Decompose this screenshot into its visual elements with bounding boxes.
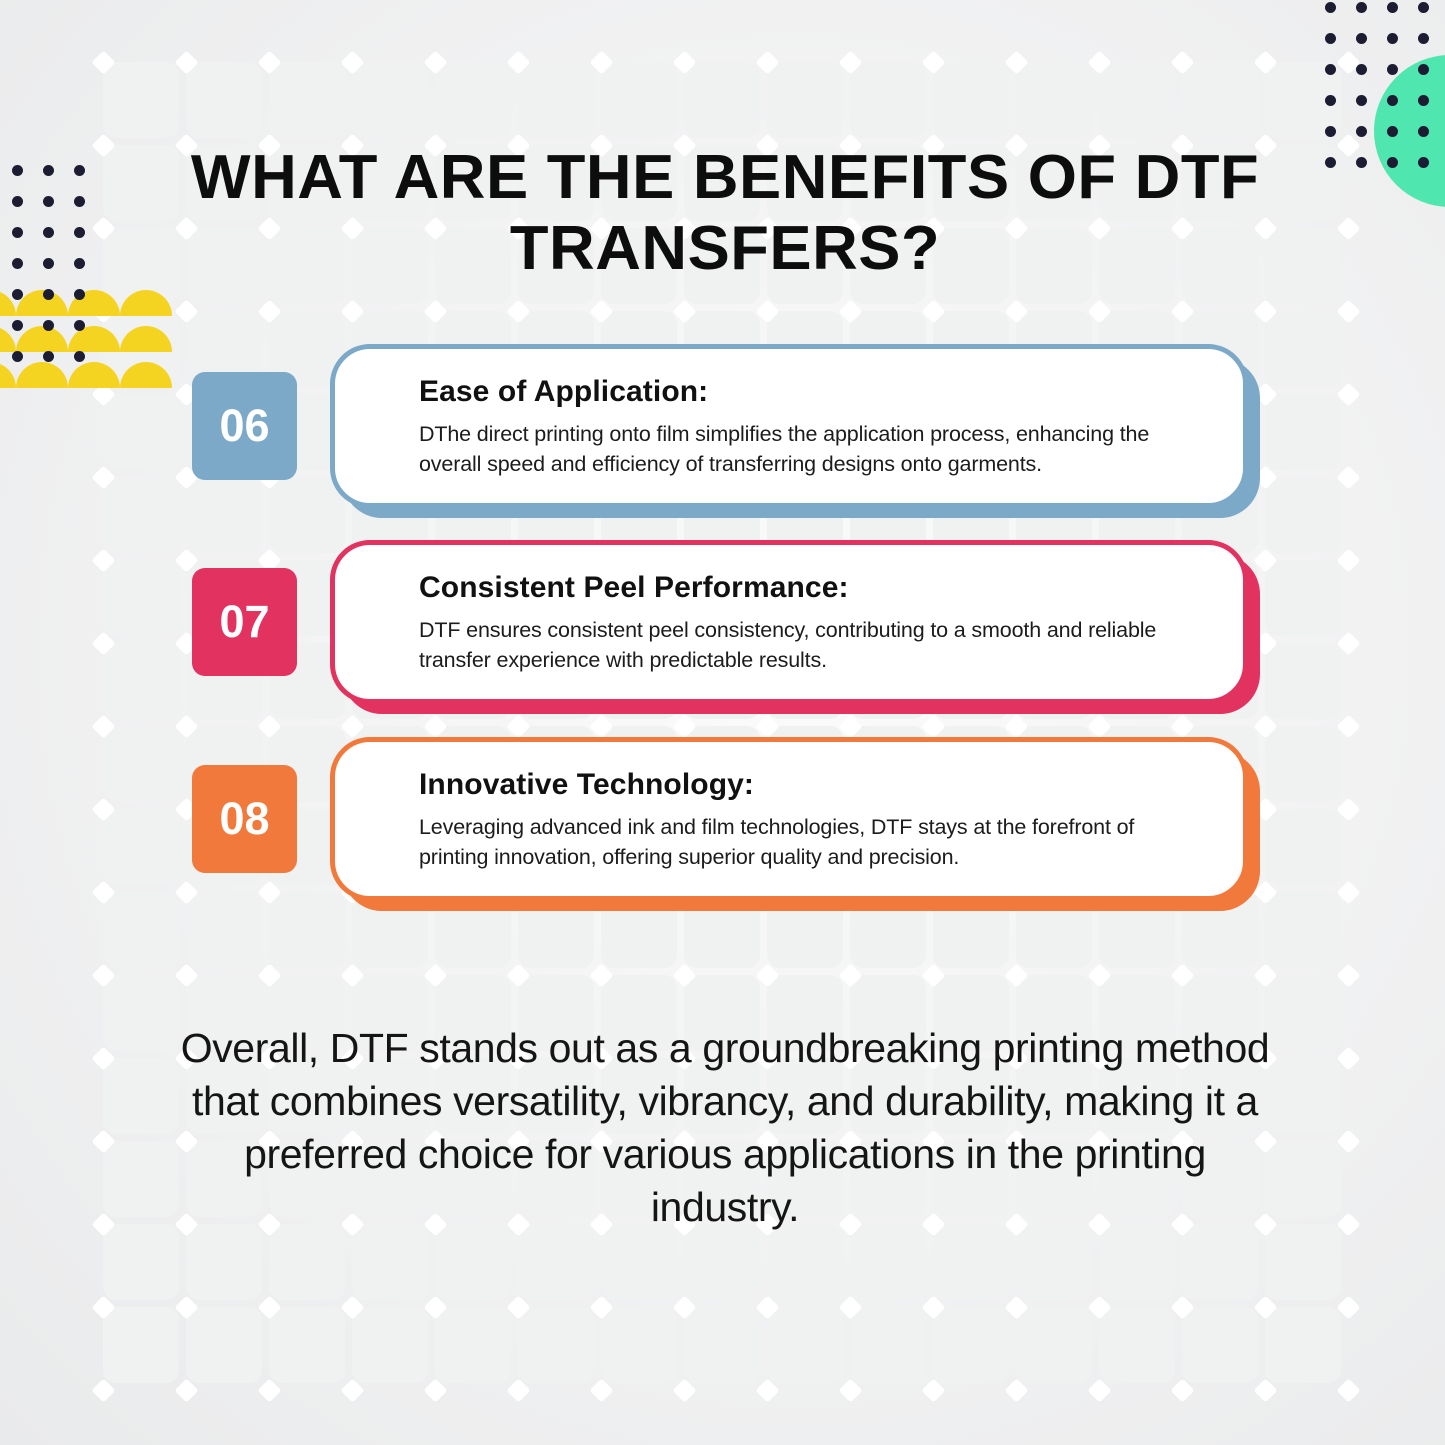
badge-number-06: 06 bbox=[192, 372, 297, 480]
card-heading-07: Consistent Peel Performance: bbox=[419, 571, 1203, 605]
badge-number-08: 08 bbox=[192, 765, 297, 873]
poster-canvas: WHAT ARE THE BENEFITS OF DTF TRANSFERS? … bbox=[0, 0, 1445, 1445]
closing-paragraph: Overall, DTF stands out as a groundbreak… bbox=[170, 1022, 1280, 1234]
card-body-06: Ease of Application: DThe direct printin… bbox=[330, 344, 1248, 508]
card-text-06: DThe direct printing onto film simplifie… bbox=[419, 419, 1203, 479]
badge-number-07: 07 bbox=[192, 568, 297, 676]
card-text-08: Leveraging advanced ink and film technol… bbox=[419, 812, 1203, 872]
card-text-07: DTF ensures consistent peel consistency,… bbox=[419, 615, 1203, 675]
card-heading-08: Innovative Technology: bbox=[419, 768, 1203, 802]
card-body-08: Innovative Technology: Leveraging advanc… bbox=[330, 737, 1248, 901]
card-body-07: Consistent Peel Performance: DTF ensures… bbox=[330, 540, 1248, 704]
teal-circle-decoration bbox=[1374, 55, 1445, 207]
card-heading-06: Ease of Application: bbox=[419, 375, 1203, 409]
page-title: WHAT ARE THE BENEFITS OF DTF TRANSFERS? bbox=[159, 142, 1291, 285]
